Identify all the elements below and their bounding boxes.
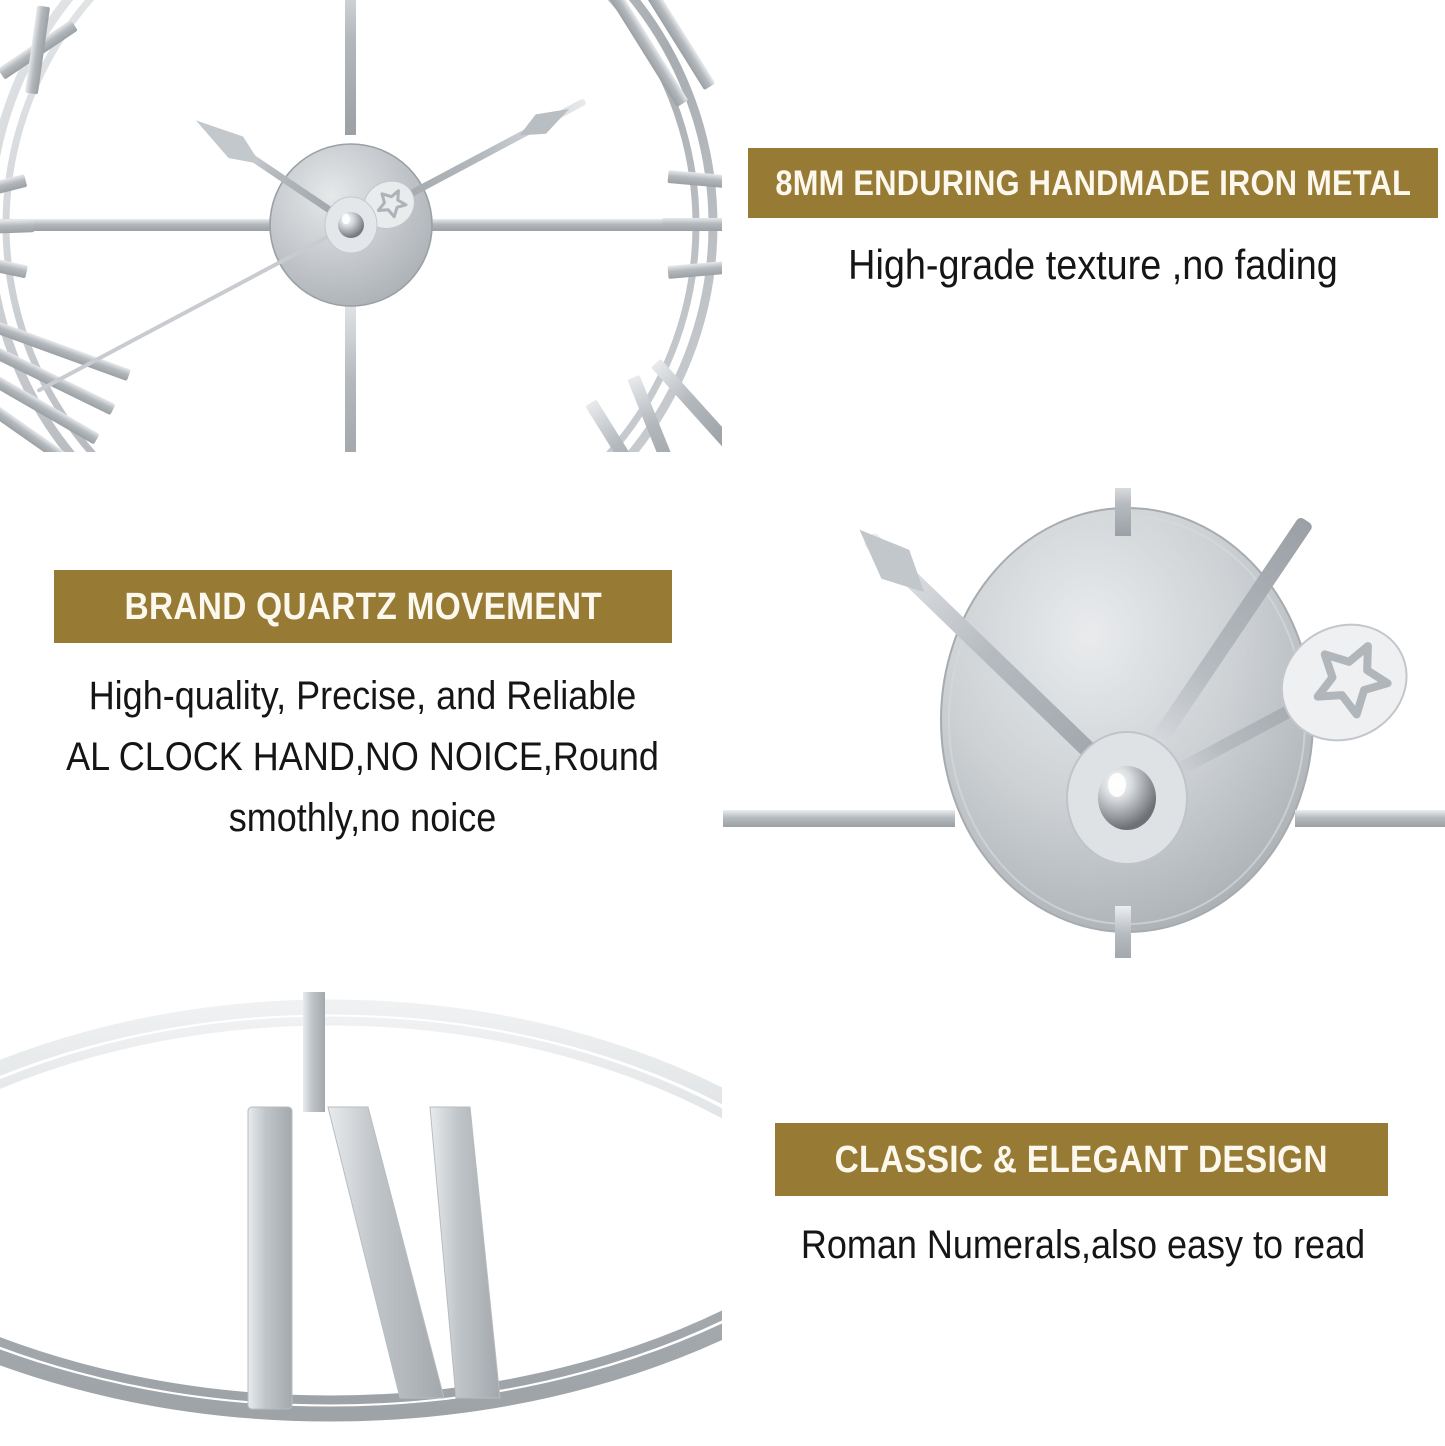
feature-panel-4: CLASSIC & ELEGANT DESIGN Roman Numerals,… xyxy=(723,992,1445,1446)
feature-4-heading-bar: CLASSIC & ELEGANT DESIGN xyxy=(775,1123,1388,1196)
movement-hub-illustration xyxy=(723,488,1445,958)
numeral-iv-illustration xyxy=(0,992,722,1446)
feature-2-heading: BRAND QUARTZ MOVEMENT xyxy=(124,588,601,626)
feature-4-subtitle: Roman Numerals,also easy to read xyxy=(777,1215,1389,1276)
infographic-sheet: 8MM ENDURING HANDMADE IRON METAL High-gr… xyxy=(0,0,1445,1446)
feature-panel-2: BRAND QUARTZ MOVEMENT High-quality, Prec… xyxy=(0,488,722,958)
feature-2-subtitle: High-quality, Precise, and Reliable AL C… xyxy=(63,666,662,848)
feature-1-subtitle: High-grade texture ,no fading xyxy=(783,233,1404,297)
photo-numeral-iv xyxy=(0,992,722,1446)
photo-movement-hub xyxy=(723,488,1445,958)
feature-1-heading: 8MM ENDURING HANDMADE IRON METAL xyxy=(775,166,1411,201)
feature-1-heading-bar: 8MM ENDURING HANDMADE IRON METAL xyxy=(748,148,1438,218)
photo-clock-face xyxy=(0,0,722,452)
feature-4-heading: CLASSIC & ELEGANT DESIGN xyxy=(835,1141,1328,1179)
feature-2-heading-bar: BRAND QUARTZ MOVEMENT xyxy=(54,570,672,643)
feature-panel-1: 8MM ENDURING HANDMADE IRON METAL High-gr… xyxy=(723,0,1445,452)
clock-face-illustration xyxy=(0,0,722,452)
